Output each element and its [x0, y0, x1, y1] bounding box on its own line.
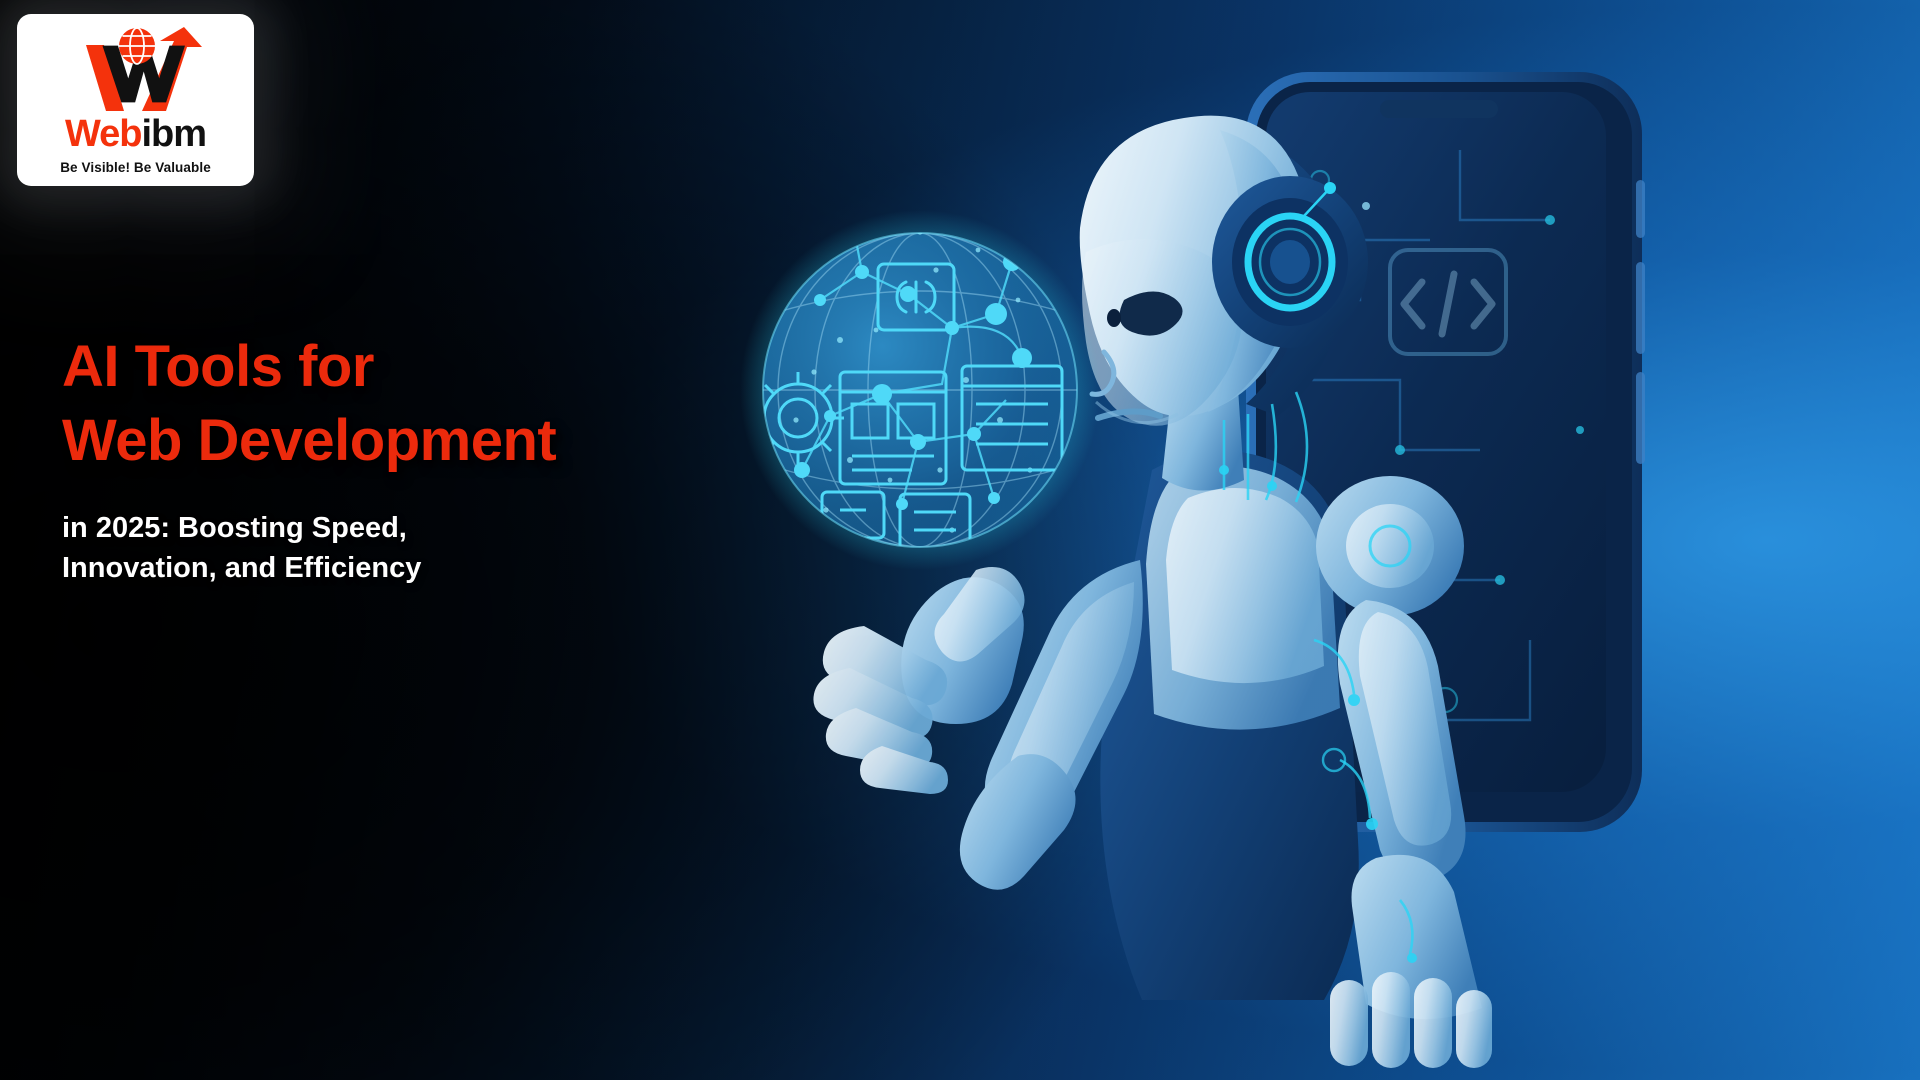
page-subtitle: in 2025: Boosting Speed, Innovation, and… [62, 508, 822, 588]
headline-line-2: Web Development [62, 404, 822, 478]
right-shoulder [1316, 476, 1464, 616]
logo-tagline: Be Visible! Be Valuable [60, 160, 211, 175]
logo-wordmark: Webibm [65, 115, 206, 153]
hero-copy: AI Tools for Web Development in 2025: Bo… [62, 330, 822, 588]
subheadline-line-2: Innovation, and Efficiency [62, 548, 822, 588]
headline-line-1: AI Tools for [62, 334, 374, 399]
page-title: AI Tools for Web Development [62, 330, 822, 477]
brand-logo[interactable]: Webibm Be Visible! Be Valuable [17, 14, 254, 186]
logo-word-ibm: ibm [141, 113, 206, 155]
logo-word-web: Web [65, 113, 142, 155]
logo-globe-arrow-w-icon [56, 25, 216, 113]
ai-robot-illustration [700, 0, 1920, 1080]
hero-banner: AI Tools for Web Development in 2025: Bo… [0, 0, 1920, 1080]
subheadline-line-1: in 2025: Boosting Speed, [62, 512, 407, 544]
